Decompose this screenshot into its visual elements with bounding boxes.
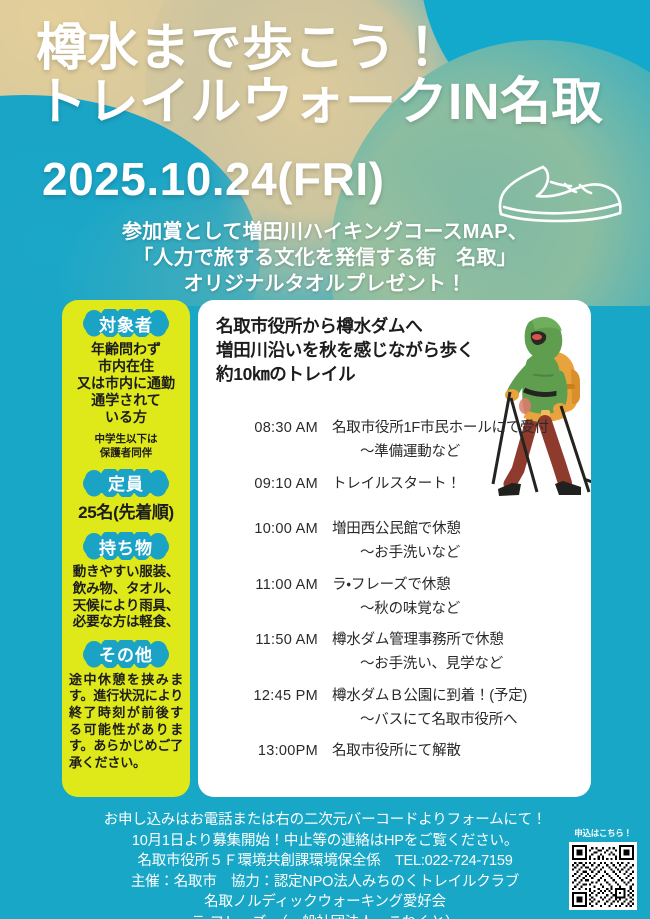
schedule-row: 09:10 AM トレイルスタート！: [210, 474, 582, 496]
schedule-row: 10:00 AM 増田西公民館で休憩: [210, 519, 582, 541]
qr-code-image: [572, 845, 634, 907]
qr-section[interactable]: 申込はこちら！: [564, 827, 642, 910]
schedule-spacer: [210, 508, 582, 519]
schedule-time: 10:00 AM: [210, 519, 332, 541]
audience-line-4: 通学されて: [77, 392, 175, 409]
gift-note-line-3: オリジナルタオルプレゼント！: [0, 271, 650, 297]
target-audience-text: 年齢問わず 市内在住 又は市内に通勤 通学されて いる方: [73, 341, 179, 426]
badge-label: 持ち物: [99, 534, 153, 559]
schedule-desc: 樽水ダム管理事務所で休憩: [332, 630, 504, 652]
title-line-2: トレイルウォークIN名取: [36, 76, 636, 128]
audience-line-5: いる方: [77, 409, 175, 426]
schedule-time: 12:45 PM: [210, 686, 332, 708]
schedule-time: 09:10 AM: [210, 474, 332, 496]
guardian-note: 中学生以下は 保護者同伴: [91, 433, 162, 459]
capacity-line-1: 25名(先着順): [78, 503, 174, 524]
schedule-row: 11:50 AM 樽水ダム管理事務所で休憩: [210, 630, 582, 652]
schedule-panel: 名取市役所から樽水ダムへ 増田川沿いを秋を感じながら歩く 約10㎞のトレイル: [198, 300, 591, 797]
schedule-desc: 樽水ダムＢ公園に到着！(予定): [332, 686, 527, 708]
event-date: 2025.10.24(FRI): [42, 152, 384, 206]
schedule-desc: 名取市役所1F市民ホールにて受付: [332, 418, 549, 440]
audience-line-3: 又は市内に通勤: [77, 375, 175, 392]
schedule-desc: 増田西公民館で休憩: [332, 519, 461, 541]
badge-label: 対象者: [99, 311, 153, 336]
badge-other-notes: その他: [77, 640, 175, 668]
schedule-row: 13:00PM 名取市役所にて解散: [210, 741, 582, 763]
schedule-list: 08:30 AM 名取市役所1F市民ホールにて受付 〜準備運動など 09:10 …: [210, 418, 582, 765]
schedule-desc: ラ・フレーズで休憩: [332, 575, 450, 597]
schedule-spacer: [210, 497, 582, 508]
gift-note-line-1: 参加賞として増田川ハイキングコースMAP、: [0, 219, 650, 245]
title-line-1: 樽水まで歩こう！: [36, 22, 636, 74]
gift-note: 参加賞として増田川ハイキングコースMAP、 「人力で旅する文化を発信する街 名取…: [0, 219, 650, 297]
schedule-time: 11:00 AM: [210, 575, 332, 597]
bring-line-1: 動きやすい服装、: [73, 564, 179, 581]
audience-line-2: 市内在住: [77, 358, 175, 375]
bring-line-4: 必要な方は軽食、: [73, 614, 179, 631]
guardian-note-line-1: 中学生以下は: [95, 433, 158, 446]
what-to-bring-text: 動きやすい服装、 飲み物、タオル、 天候により雨具、 必要な方は軽食、: [66, 564, 186, 630]
footer-text: お申し込みはお電話または右の二次元バーコードよりフォームにて！ 10月1日より募…: [0, 810, 650, 919]
schedule-time: 13:00PM: [210, 741, 332, 763]
poster-title: 樽水まで歩こう！ トレイルウォークIN名取: [36, 22, 636, 128]
audience-line-1: 年齢問わず: [77, 341, 175, 358]
footer-line-5: 名取ノルディックウォーキング愛好会: [0, 892, 650, 913]
schedule-sub: 〜準備運動など: [318, 442, 582, 464]
schedule-sub: 〜バスにて名取市役所へ: [318, 710, 582, 732]
schedule-desc: 名取市役所にて解散: [332, 741, 461, 763]
schedule-row: 12:45 PM 樽水ダムＢ公園に到着！(予定): [210, 686, 582, 708]
footer-line-6: ラ・フレーズ （一般社団法人 こねくと）: [0, 913, 650, 919]
sneaker-icon: [485, 160, 635, 228]
badge-label: 定員: [108, 470, 144, 495]
gift-note-line-2: 「人力で旅する文化を発信する街 名取」: [0, 245, 650, 271]
footer-line-3: 名取市役所５Ｆ環境共創課環境保全係 TEL:022-724-7159: [0, 851, 650, 872]
footer-line-4: 主催：名取市 協力：認定NPO法人みちのくトレイルクラブ: [0, 872, 650, 893]
qr-label: 申込はこちら！: [564, 827, 642, 839]
poster-root: 樽水まで歩こう！ トレイルウォークIN名取 2025.10.24(FRI) 参加…: [0, 0, 650, 919]
schedule-time: 08:30 AM: [210, 418, 332, 440]
capacity-text: 25名(先着順): [74, 503, 178, 524]
qr-code[interactable]: [569, 842, 637, 910]
guardian-note-line-2: 保護者同伴: [95, 447, 158, 460]
schedule-sub: 〜秋の味覚など: [318, 599, 582, 621]
bring-line-3: 天候により雨具、: [73, 598, 179, 615]
schedule-time: 11:50 AM: [210, 630, 332, 652]
schedule-row: 11:00 AM ラ・フレーズで休憩: [210, 575, 582, 597]
badge-target-audience: 対象者: [77, 309, 175, 337]
schedule-sub: 〜お手洗い、見学など: [318, 654, 582, 676]
other-notes-text: 途中休憩を挟みます。進行状況により終了時刻が前後する可能性があります。あらかじめ…: [62, 672, 190, 772]
info-sidebar: 対象者 年齢問わず 市内在住 又は市内に通勤 通学されて いる方 中学生以下は …: [62, 300, 190, 797]
bring-line-2: 飲み物、タオル、: [73, 581, 179, 598]
footer: お申し込みはお電話または右の二次元バーコードよりフォームにて！ 10月1日より募…: [0, 805, 650, 919]
schedule-sub: 〜お手洗いなど: [318, 543, 582, 565]
footer-line-1: お申し込みはお電話または右の二次元バーコードよりフォームにて！: [0, 810, 650, 831]
badge-capacity: 定員: [77, 469, 175, 497]
badge-what-to-bring: 持ち物: [77, 532, 175, 560]
schedule-row: 08:30 AM 名取市役所1F市民ホールにて受付: [210, 418, 582, 440]
footer-line-2: 10月1日より募集開始！中止等の連絡はHPをご覧ください。: [0, 831, 650, 852]
schedule-desc: トレイルスタート！: [332, 474, 461, 496]
badge-label: その他: [99, 641, 153, 666]
